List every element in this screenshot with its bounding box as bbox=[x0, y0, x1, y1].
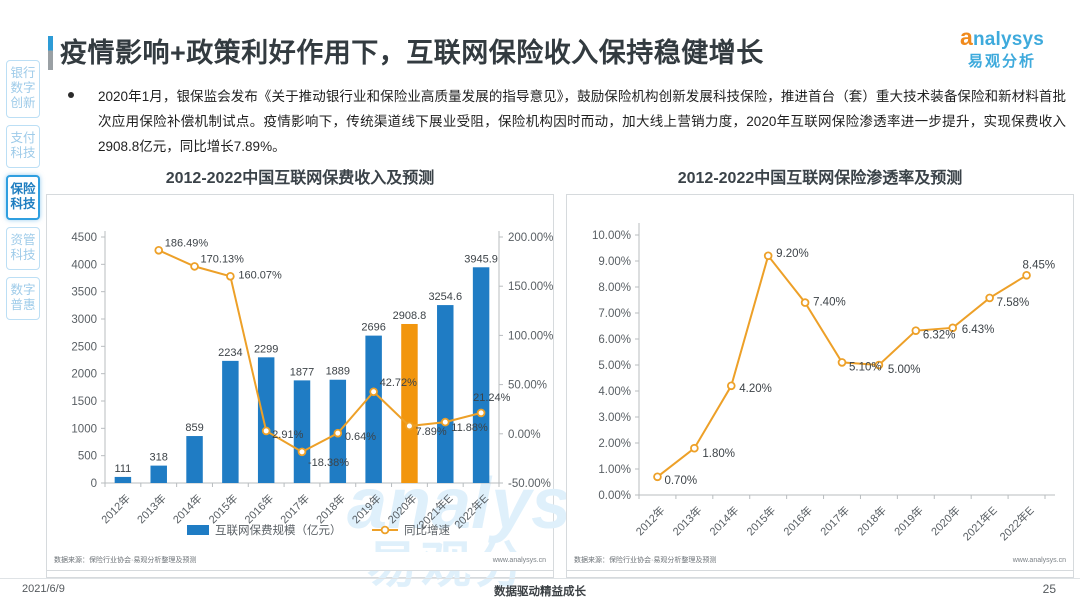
bullet-text: 2020年1月，银保监会发布《关于推动银行业和保险业高质量发展的指导意见》，鼓励… bbox=[98, 84, 1066, 159]
bar-2021E[interactable] bbox=[437, 305, 453, 483]
growth-value-label: 7.89% bbox=[415, 426, 446, 438]
y1-tick-label: 4000 bbox=[71, 259, 97, 271]
penetration-point[interactable] bbox=[802, 299, 809, 306]
penetration-value-label: 6.32% bbox=[923, 330, 956, 342]
penetration-value-label: 8.45% bbox=[1023, 259, 1056, 271]
footer-slogan: 数据驱动精益成长 bbox=[0, 583, 1080, 599]
sidebar-item-insurance-tech[interactable]: 保险科技 bbox=[6, 175, 40, 220]
sidebar-nav: 银行数字创新 支付科技 保险科技 资管科技 数字普惠 bbox=[6, 60, 42, 327]
y1-tick-label: 0 bbox=[91, 478, 97, 490]
logo-cn-text: 易观分析 bbox=[946, 52, 1058, 71]
source-url: www.analysys.cn bbox=[493, 552, 546, 569]
bar-value-label: 3945.9 bbox=[464, 253, 498, 265]
growth-value-label: 2.91% bbox=[272, 429, 303, 441]
growth-point[interactable] bbox=[334, 430, 341, 437]
penetration-value-label: 5.10% bbox=[849, 361, 882, 373]
x-tick-label: 2022年E bbox=[451, 491, 491, 531]
title-accent-bar bbox=[48, 36, 53, 70]
sidebar-item-label: 保险科技 bbox=[8, 182, 38, 212]
penetration-point[interactable] bbox=[912, 327, 919, 334]
slide-header: 疫情影响+政策利好作用下，互联网保险收入保持稳健增长 analysys 易观分析 bbox=[0, 14, 1080, 68]
bar-2016[interactable] bbox=[258, 357, 274, 483]
source-text: 数据来源：保险行业协会·易观分析整理及预测 bbox=[54, 552, 196, 569]
y1-tick-label: 3500 bbox=[71, 287, 97, 299]
x-tick-label: 2019年 bbox=[349, 491, 384, 526]
y2-tick-label: -50.00% bbox=[508, 478, 551, 490]
bar-value-label: 2696 bbox=[361, 322, 385, 334]
bar-2020[interactable] bbox=[401, 324, 417, 483]
penetration-value-label: 7.58% bbox=[997, 297, 1030, 309]
penetration-value-label: 9.20% bbox=[776, 248, 809, 260]
y-tick-label: 9.00% bbox=[598, 256, 631, 268]
footer-divider bbox=[0, 578, 1080, 579]
x-tick-label: 2012年 bbox=[98, 491, 133, 526]
y1-tick-label: 3000 bbox=[71, 314, 97, 326]
penetration-value-label: 5.00% bbox=[888, 364, 921, 376]
x-tick-label: 2015年 bbox=[205, 491, 240, 526]
y-tick-label: 0.00% bbox=[598, 490, 631, 502]
penetration-point[interactable] bbox=[1023, 272, 1030, 279]
growth-value-label: 0.64% bbox=[345, 431, 376, 443]
logo-en-text: analysys bbox=[946, 26, 1058, 51]
bar-2013[interactable] bbox=[150, 466, 166, 483]
bar-value-label: 2908.8 bbox=[393, 310, 427, 322]
chart-panel-premium: 2012-2022中国互联网保费收入及预测 analysys 易观分析 0500… bbox=[46, 168, 554, 580]
bullet-paragraph: 2020年1月，银保监会发布《关于推动银行业和保险业高质量发展的指导意见》，鼓励… bbox=[68, 84, 1066, 159]
penetration-point[interactable] bbox=[654, 473, 661, 480]
growth-value-label: 42.72% bbox=[380, 377, 418, 389]
chart-panel-penetration: 2012-2022中国互联网保险渗透率及预测 analysys 易观分析 0.0… bbox=[566, 168, 1074, 580]
bar-value-label: 859 bbox=[185, 422, 203, 434]
bar-value-label: 318 bbox=[150, 452, 168, 464]
source-strip-right: 数据来源：保险行业协会·易观分析整理及预测 www.analysys.cn bbox=[566, 552, 1074, 571]
logo-a-mark-icon: a bbox=[960, 24, 973, 50]
sidebar-item-label: 银行数字创新 bbox=[7, 66, 39, 111]
y-tick-label: 1.00% bbox=[598, 464, 631, 476]
legend-marker-growth bbox=[382, 527, 389, 534]
bar-value-label: 3254.6 bbox=[428, 291, 462, 303]
bar-value-label: 111 bbox=[115, 463, 132, 475]
bar-2019[interactable] bbox=[365, 336, 381, 483]
chart-title-penetration: 2012-2022中国互联网保险渗透率及预测 bbox=[566, 168, 1074, 194]
growth-point[interactable] bbox=[478, 409, 485, 416]
x-tick-label: 2018年 bbox=[313, 491, 348, 526]
growth-point[interactable] bbox=[442, 419, 449, 426]
x-tick-label: 2014年 bbox=[170, 491, 205, 526]
x-tick-label: 2017年 bbox=[817, 503, 852, 538]
sidebar-item-label: 支付科技 bbox=[7, 131, 39, 161]
penetration-value-label: 4.20% bbox=[739, 383, 772, 395]
sidebar-item-asset-tech[interactable]: 资管科技 bbox=[6, 227, 40, 270]
growth-point[interactable] bbox=[370, 388, 377, 395]
growth-value-label: 170.13% bbox=[201, 253, 245, 265]
penetration-point[interactable] bbox=[986, 295, 993, 302]
y1-tick-label: 2000 bbox=[71, 369, 97, 381]
penetration-point[interactable] bbox=[728, 382, 735, 389]
growth-value-label: 186.49% bbox=[165, 237, 209, 249]
sidebar-item-payment-tech[interactable]: 支付科技 bbox=[6, 125, 40, 168]
y1-tick-label: 4500 bbox=[71, 232, 97, 244]
bar-value-label: 2299 bbox=[254, 343, 278, 355]
x-tick-label: 2013年 bbox=[669, 503, 704, 538]
growth-point[interactable] bbox=[155, 247, 162, 254]
x-tick-label: 2021年E bbox=[960, 503, 1000, 543]
y2-tick-label: 100.00% bbox=[508, 330, 553, 342]
bar-2015[interactable] bbox=[222, 361, 238, 483]
legend-swatch-bar bbox=[187, 525, 209, 535]
analysys-logo: analysys 易观分析 bbox=[946, 26, 1058, 71]
y2-tick-label: 0.00% bbox=[508, 429, 541, 441]
x-tick-label: 2015年 bbox=[743, 503, 778, 538]
y1-tick-label: 500 bbox=[78, 451, 97, 463]
penetration-value-label: 0.70% bbox=[664, 475, 697, 487]
growth-value-label: 11.88% bbox=[451, 422, 488, 434]
penetration-value-label: 7.40% bbox=[813, 297, 846, 309]
y-tick-label: 3.00% bbox=[598, 412, 631, 424]
bar-value-label: 1877 bbox=[290, 366, 314, 378]
chart-title-premium: 2012-2022中国互联网保费收入及预测 bbox=[46, 168, 554, 194]
page-title: 疫情影响+政策利好作用下，互联网保险收入保持稳健增长 bbox=[60, 32, 764, 74]
bullet-dot-icon bbox=[68, 92, 74, 98]
penetration-point[interactable] bbox=[765, 252, 772, 259]
y-tick-label: 5.00% bbox=[598, 360, 631, 372]
slide-root: 疫情影响+政策利好作用下，互联网保险收入保持稳健增长 analysys 易观分析… bbox=[0, 0, 1080, 608]
source-text: 数据来源：保险行业协会·易观分析整理及预测 bbox=[574, 552, 716, 569]
y2-tick-label: 150.00% bbox=[508, 281, 553, 293]
growth-line[interactable] bbox=[159, 250, 481, 452]
y-tick-label: 7.00% bbox=[598, 308, 631, 320]
growth-point[interactable] bbox=[406, 423, 413, 430]
y-tick-label: 10.00% bbox=[592, 230, 631, 242]
y-tick-label: 8.00% bbox=[598, 282, 631, 294]
x-tick-label: 2018年 bbox=[854, 503, 889, 538]
bar-2014[interactable] bbox=[186, 436, 202, 483]
y2-tick-label: 50.00% bbox=[508, 380, 547, 392]
bar-2022E[interactable] bbox=[473, 267, 489, 483]
y-tick-label: 4.00% bbox=[598, 386, 631, 398]
chart-box-premium: analysys 易观分析 05001000150020002500300035… bbox=[46, 194, 554, 578]
x-tick-label: 2022年E bbox=[996, 503, 1036, 543]
x-tick-label: 2019年 bbox=[891, 503, 926, 538]
penetration-value-label: 1.80% bbox=[702, 448, 735, 460]
x-tick-label: 2013年 bbox=[134, 491, 169, 526]
penetration-point[interactable] bbox=[691, 445, 698, 452]
y1-tick-label: 1000 bbox=[71, 423, 97, 435]
bar-value-label: 2234 bbox=[218, 347, 242, 359]
y1-tick-label: 1500 bbox=[71, 396, 97, 408]
sidebar-item-bank-digital[interactable]: 银行数字创新 bbox=[6, 60, 40, 118]
penetration-point[interactable] bbox=[839, 359, 846, 366]
x-tick-label: 2017年 bbox=[277, 491, 312, 526]
chart-box-penetration: analysys 易观分析 0.00%1.00%2.00%3.00%4.00%5… bbox=[566, 194, 1074, 578]
penetration-value-label: 6.43% bbox=[962, 324, 995, 336]
growth-point[interactable] bbox=[227, 273, 234, 280]
bar-2012[interactable] bbox=[115, 477, 131, 483]
footer-page-number: 25 bbox=[1043, 582, 1056, 596]
growth-value-label: -18.38% bbox=[308, 457, 349, 469]
source-strip-left: 数据来源：保险行业协会·易观分析整理及预测 www.analysys.cn bbox=[46, 552, 554, 571]
x-tick-label: 2020年 bbox=[928, 503, 963, 538]
legend-label-growth: 同比增速 bbox=[404, 523, 450, 537]
logo-en-rest: nalysys bbox=[973, 29, 1044, 50]
source-url: www.analysys.cn bbox=[1013, 552, 1066, 569]
sidebar-item-digital-inclusive[interactable]: 数字普惠 bbox=[6, 277, 40, 320]
growth-point[interactable] bbox=[299, 448, 306, 455]
x-tick-label: 2012年 bbox=[633, 503, 668, 538]
y1-tick-label: 2500 bbox=[71, 341, 97, 353]
chart-svg-penetration: 0.00%1.00%2.00%3.00%4.00%5.00%6.00%7.00%… bbox=[567, 195, 1075, 579]
growth-point[interactable] bbox=[191, 263, 198, 270]
x-tick-label: 2016年 bbox=[780, 503, 815, 538]
sidebar-item-label: 数字普惠 bbox=[7, 283, 39, 313]
y2-tick-label: 200.00% bbox=[508, 232, 553, 244]
y-tick-label: 2.00% bbox=[598, 438, 631, 450]
sidebar-item-label: 资管科技 bbox=[7, 233, 39, 263]
growth-point[interactable] bbox=[263, 428, 270, 435]
bar-value-label: 1889 bbox=[326, 366, 350, 378]
y-tick-label: 6.00% bbox=[598, 334, 631, 346]
x-tick-label: 2020年 bbox=[385, 491, 420, 526]
x-tick-label: 2014年 bbox=[706, 503, 741, 538]
chart-svg-premium: 050010001500200025003000350040004500-50.… bbox=[47, 195, 555, 579]
growth-value-label: 160.07% bbox=[238, 269, 282, 281]
x-tick-label: 2016年 bbox=[241, 491, 276, 526]
growth-value-label: 21.24% bbox=[473, 392, 511, 404]
legend-label-bar: 互联网保费规模（亿元） bbox=[215, 523, 342, 537]
